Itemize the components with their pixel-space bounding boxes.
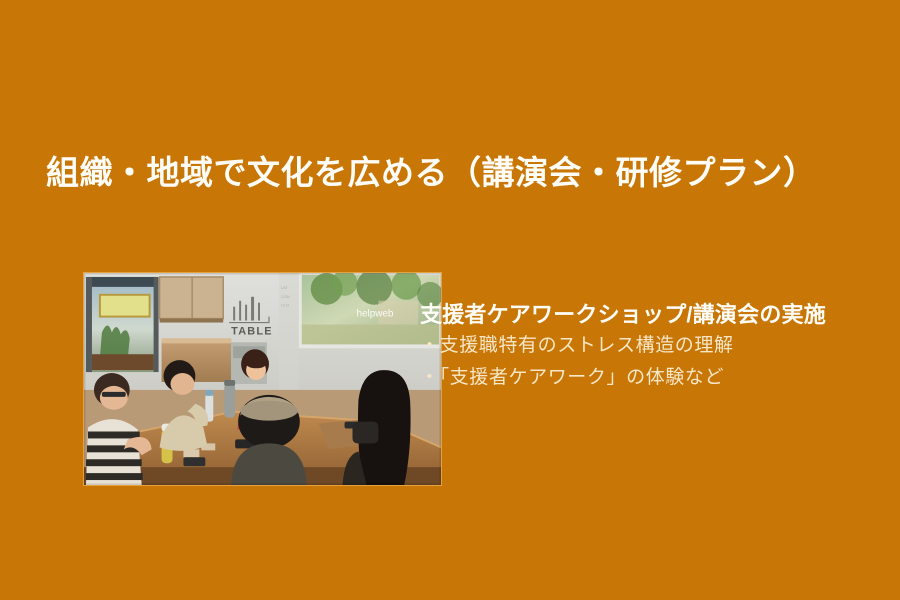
content-block: 支援者ケアワークショップ/講演会の実施 ・支援職特有のストレス構造の理解 ・「支…: [420, 300, 885, 394]
page-title: 組織・地域で文化を広める（講演会・研修プラン）: [46, 151, 866, 195]
bullet-marker: ・: [420, 367, 440, 388]
content-heading: 支援者ケアワークショップ/講演会の実施: [420, 300, 885, 330]
projector-caption: helpweb: [356, 309, 393, 320]
bullet-marker: ・: [420, 335, 440, 356]
workshop-photo: TABLE helpweb LAT CON CLO: [83, 272, 442, 486]
slide-canvas: 組織・地域で文化を広める（講演会・研修プラン）: [0, 0, 900, 600]
workshop-photo-illustration: TABLE helpweb LAT CON CLO: [84, 273, 441, 485]
wall-sign-text: TABLE: [231, 325, 273, 337]
bullet-text: 「支援者ケアワーク」の体験など: [440, 367, 725, 388]
bullet-text: 支援職特有のストレス構造の理解: [440, 335, 734, 356]
list-item: ・支援職特有のストレス構造の理解: [420, 330, 885, 362]
list-item: ・「支援者ケアワーク」の体験など: [420, 362, 885, 394]
